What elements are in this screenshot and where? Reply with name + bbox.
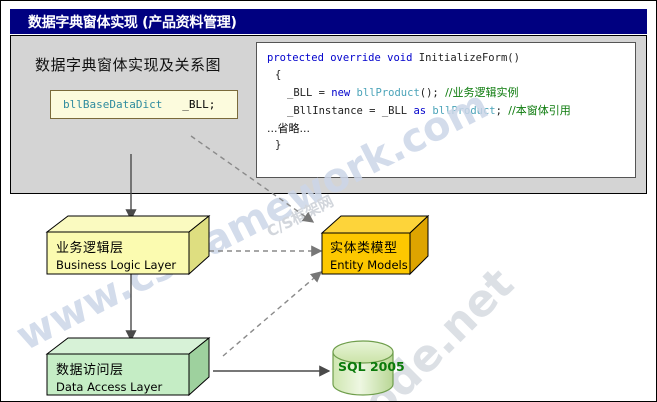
code-method-name: InitializeForm() — [419, 52, 520, 64]
label-entity-en: Entity Models — [330, 258, 408, 272]
label-database: SQL 2005 — [338, 359, 405, 374]
code-keyword-void: void — [387, 52, 412, 64]
label-entity-cn: 实体类模型 — [330, 237, 398, 256]
code-keyword-protected: protected — [267, 52, 324, 64]
code-comment-2: //本窗体引用 — [508, 104, 570, 117]
window-title-bar: 数据字典窗体实现 (产品资料管理) — [10, 9, 647, 34]
page-title: 数据字典窗体实现 (产品资料管理) — [28, 12, 237, 32]
code-type-bllproduct-2: bllProduct — [426, 105, 496, 117]
code-line-6: } — [267, 137, 635, 154]
code-panel: 数据字典窗体实现及关系图 bllBaseDataDict _BLL; prote… — [10, 35, 647, 194]
code-assign-bllinstance: _BllInstance = _BLL — [287, 105, 413, 117]
declaration-box: bllBaseDataDict _BLL; — [50, 90, 238, 119]
label-bll-cn: 业务逻辑层 — [56, 237, 124, 256]
code-assign-bll: _BLL = — [287, 87, 331, 99]
label-bll-en: Business Logic Layer — [56, 258, 176, 272]
code-line-1: protected override void InitializeForm() — [267, 50, 635, 67]
code-type-bllproduct-1: bllProduct — [350, 87, 420, 99]
code-close-brace: } — [275, 139, 281, 151]
source-code-box: protected override void InitializeForm()… — [256, 42, 636, 178]
code-tail-1: (); — [420, 87, 439, 99]
panel-subtitle: 数据字典窗体实现及关系图 — [35, 54, 221, 75]
code-line-4: _BllInstance = _BLL as bllProduct; //本窗体… — [267, 102, 635, 120]
code-open-brace: { — [275, 69, 281, 81]
declaration-variable: _BLL; — [182, 98, 215, 111]
code-keyword-as: as — [413, 105, 426, 117]
code-line-5: ...省略... — [267, 120, 635, 137]
architecture-diagram: 业务逻辑层 Business Logic Layer 实体类模型 Entity … — [1, 194, 657, 402]
diagram-page: 数据字典窗体实现 (产品资料管理) 数据字典窗体实现及关系图 bllBaseDa… — [0, 0, 657, 402]
declaration-type: bllBaseDataDict — [63, 98, 162, 111]
code-line-2: { — [267, 67, 635, 84]
connector-dal-to-entity — [223, 272, 321, 356]
code-tail-2: ; — [496, 105, 502, 117]
code-line-3: _BLL = new bllProduct(); //业务逻辑实例 — [267, 84, 635, 102]
label-dal-cn: 数据访问层 — [56, 359, 124, 378]
code-keyword-override: override — [330, 52, 381, 64]
code-ellipsis: ...省略... — [267, 122, 310, 135]
label-dal-en: Data Access Layer — [56, 380, 162, 394]
code-comment-1: //业务逻辑实例 — [445, 86, 518, 99]
code-keyword-new: new — [331, 87, 350, 99]
